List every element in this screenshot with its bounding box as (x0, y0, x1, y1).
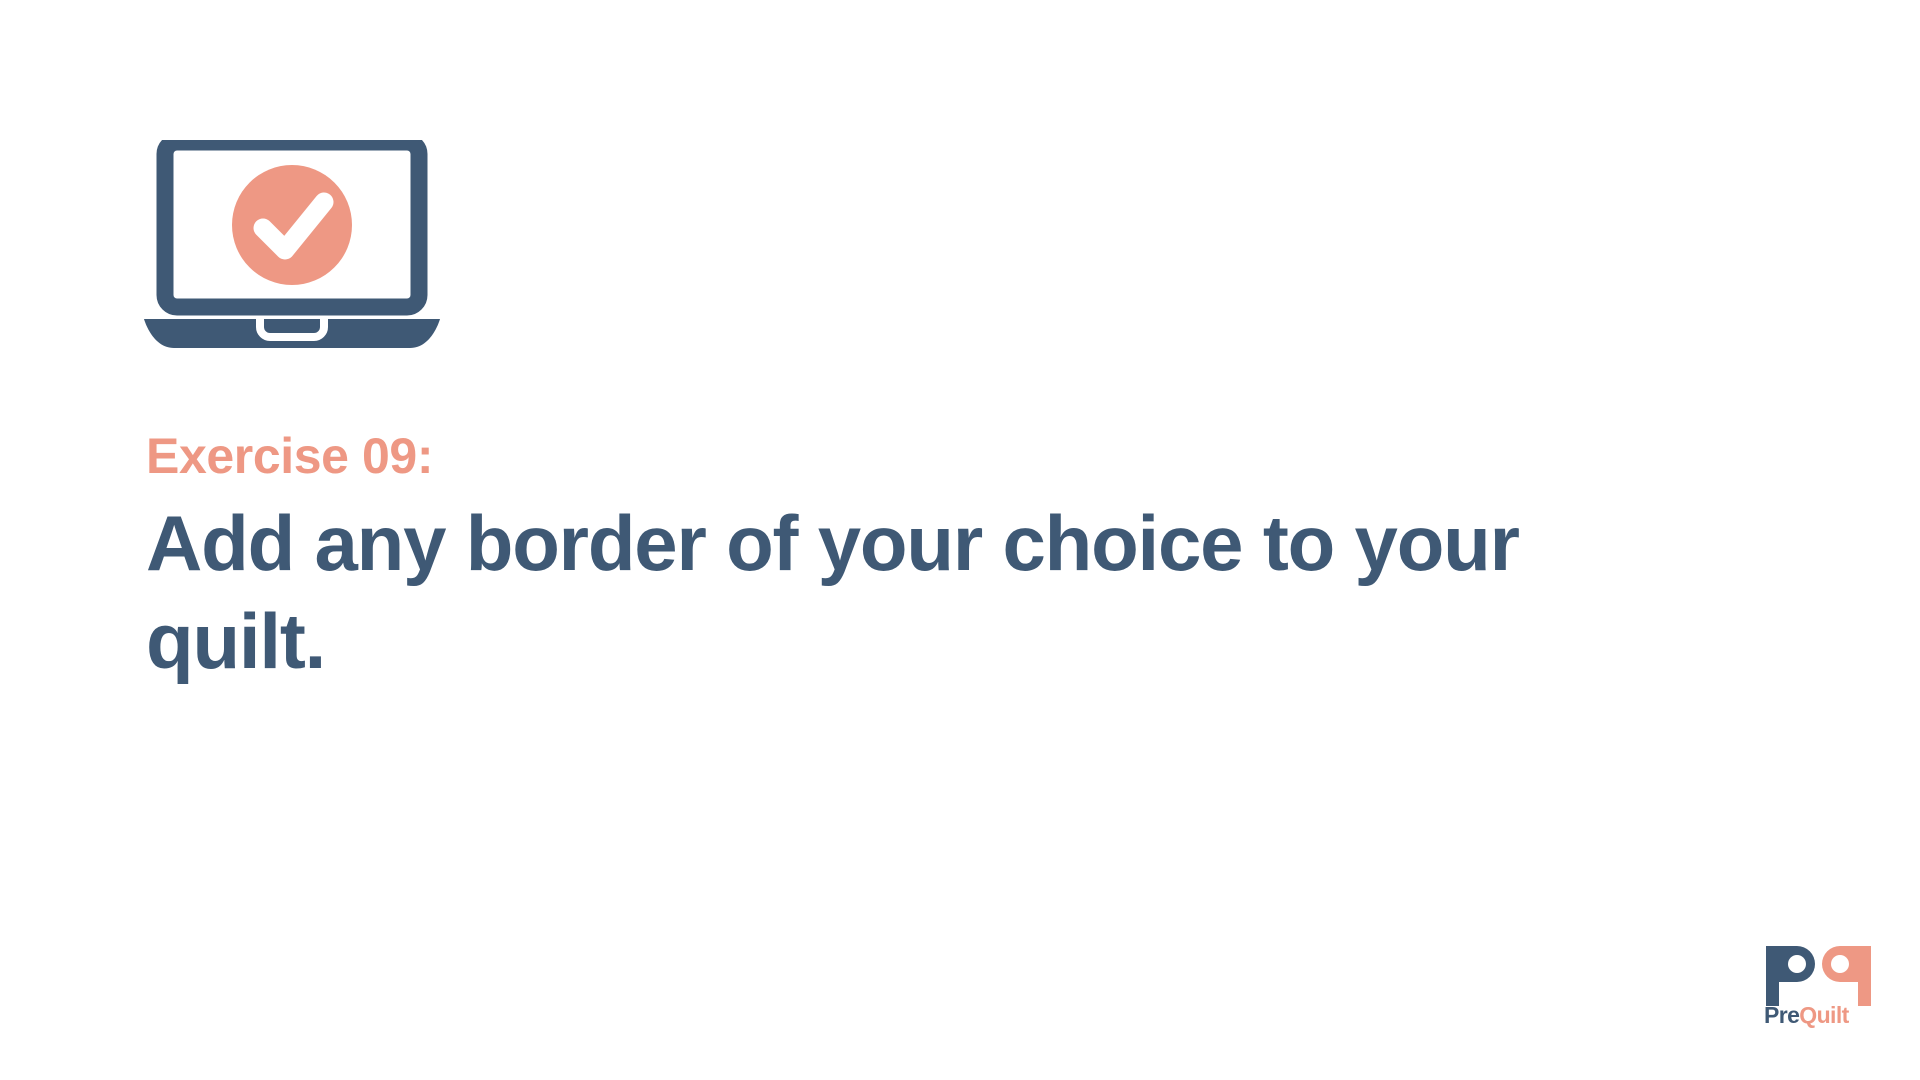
wordmark-quilt: Quilt (1799, 1002, 1848, 1028)
wordmark-pre: Pre (1764, 1002, 1799, 1028)
exercise-label: Exercise 09: (146, 428, 1706, 484)
prequilt-logo: PreQuilt (1763, 938, 1875, 1036)
slide-root: Exercise 09: Add any border of your choi… (0, 0, 1920, 1080)
prequilt-wordmark: PreQuilt (1764, 1004, 1849, 1027)
page-title: Add any border of your choice to your qu… (146, 494, 1656, 691)
slide-text-block: Exercise 09: Add any border of your choi… (146, 428, 1706, 691)
pq-monogram-icon (1763, 938, 1875, 1006)
laptop-check-icon (142, 140, 442, 352)
check-badge-circle (232, 165, 352, 285)
